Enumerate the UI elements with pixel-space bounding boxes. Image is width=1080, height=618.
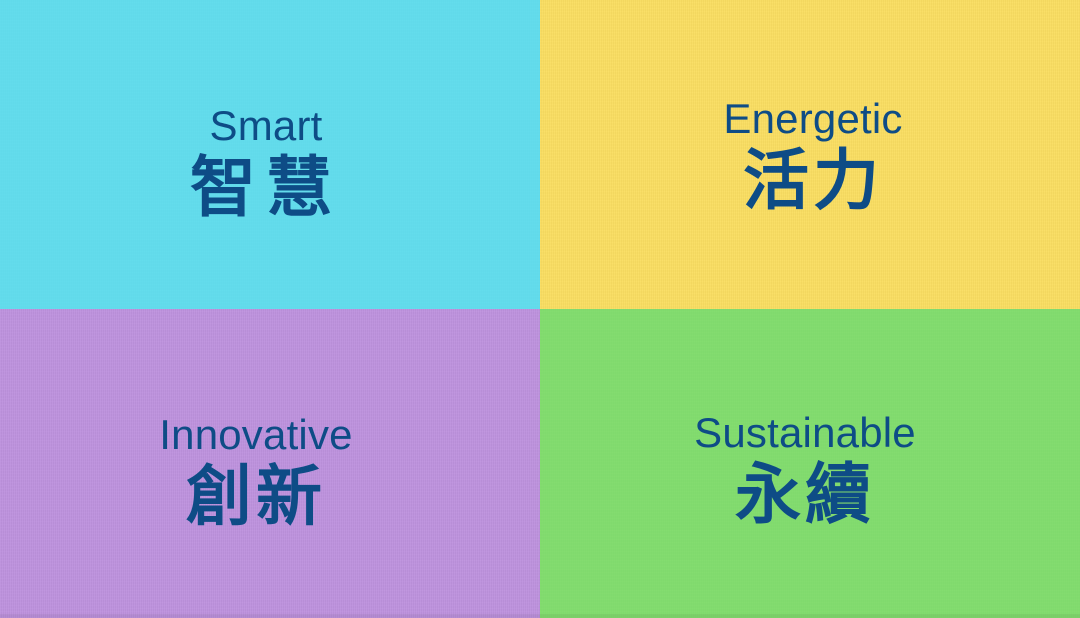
quadrant-smart: Smart 智慧 (0, 0, 540, 309)
quadrant-sustainable-labels: Sustainable 永續 (694, 412, 916, 528)
quadrant-sustainable-label-zh: 永續 (735, 462, 875, 528)
quadrant-smart-label-zh: 智慧 (190, 155, 342, 221)
quadrant-energetic-labels: Energetic 活力 (723, 98, 902, 214)
quadrant-smart-label-en: Smart (209, 105, 322, 147)
quadrant-sustainable: Sustainable 永續 (540, 309, 1080, 618)
quadrant-innovative-label-en: Innovative (159, 414, 352, 456)
quadrant-innovative-labels: Innovative 創新 (159, 414, 352, 530)
quadrant-smart-labels: Smart 智慧 (190, 105, 342, 221)
quadrant-innovative: Innovative 創新 (0, 309, 540, 618)
quadrant-energetic-label-zh: 活力 (743, 148, 883, 214)
quadrant-energetic-label-en: Energetic (723, 98, 902, 140)
quadrant-energetic: Energetic 活力 (540, 0, 1080, 309)
brand-values-quadrant-board: Smart 智慧 Energetic 活力 Innovative 創新 Sust… (0, 0, 1080, 618)
quadrant-innovative-label-zh: 創新 (186, 464, 326, 530)
quadrant-sustainable-label-en: Sustainable (694, 412, 916, 454)
